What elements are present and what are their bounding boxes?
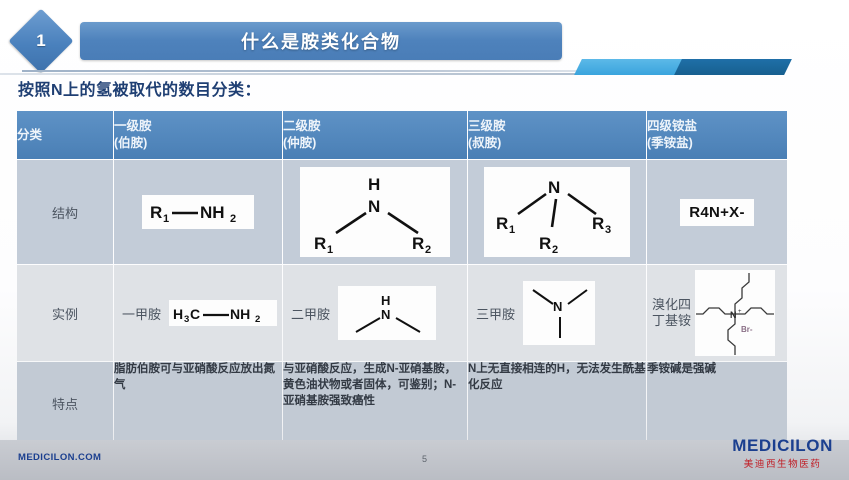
subtitle: 按照N上的氢被取代的数目分类：	[18, 76, 261, 100]
example-primary-plate: H 3 C NH 2	[169, 300, 277, 326]
example-tertiary-icon: N	[523, 281, 595, 345]
svg-text:R: R	[150, 203, 162, 222]
svg-text:N: N	[548, 178, 560, 197]
svg-text:NH: NH	[200, 203, 225, 222]
column-header-line1: 四级铵盐	[647, 118, 787, 135]
table-row-example: 实例 一甲胺 H 3 C NH 2	[17, 265, 787, 361]
example-primary-name: 一甲胺	[122, 304, 161, 323]
title-bar: 什么是胺类化合物	[80, 22, 562, 60]
column-header-tertiary: 三级胺 (叔胺)	[468, 111, 646, 159]
feature-quaternary: 季铵碱是强碱	[647, 362, 787, 444]
cell-structure-primary: R 1 NH 2	[114, 160, 282, 264]
table-header-row: 分类 一级胺 (伯胺) 二级胺 (仲胺) 三级胺 (叔胺) 四级铵盐 (季铵盐)	[17, 111, 787, 159]
svg-text:1: 1	[163, 213, 169, 225]
cell-structure-tertiary: N R 1 R 3 R 2	[468, 160, 646, 264]
svg-text:3: 3	[184, 314, 189, 325]
row-label-feature: 特点	[17, 362, 113, 444]
amine-classification-table: 分类 一级胺 (伯胺) 二级胺 (仲胺) 三级胺 (叔胺) 四级铵盐 (季铵盐)	[16, 110, 788, 445]
svg-text:H: H	[173, 306, 183, 322]
structure-tertiary-plate: N R 1 R 3 R 2	[484, 167, 630, 257]
table-row-feature: 特点 脂肪伯胺可与亚硝酸反应放出氮气 与亚硝酸反应，生成N-亚硝基胺，黄色油状物…	[17, 362, 787, 444]
decoration-line	[0, 73, 658, 75]
row-label-example: 实例	[17, 265, 113, 361]
svg-text:1: 1	[327, 244, 333, 256]
structure-quaternary-formula: R4N+X-	[680, 199, 754, 226]
example-quaternary-icon: N + Br-	[695, 270, 775, 356]
example-tertiary-name: 三甲胺	[476, 304, 515, 323]
column-header-line1: 一级胺	[114, 118, 282, 135]
svg-text:2: 2	[255, 314, 260, 325]
example-quaternary-name-line1: 溴化四	[652, 297, 691, 312]
header-decoration	[578, 59, 849, 77]
column-header-line2: (季铵盐)	[647, 135, 787, 152]
column-header-secondary: 二级胺 (仲胺)	[283, 111, 467, 159]
feature-secondary: 与亚硝酸反应，生成N-亚硝基胺，黄色油状物或者固体，可鉴别；N-亚硝基胺强致癌性	[283, 362, 467, 444]
structure-secondary-plate: H N R 1 R 2	[300, 167, 450, 257]
cell-example-primary: 一甲胺 H 3 C NH 2	[114, 265, 282, 361]
company-logo: MEDICILON 美迪西生物医药	[732, 437, 833, 470]
svg-text:R: R	[314, 234, 326, 253]
example-secondary-icon: H N	[338, 286, 436, 340]
logo-subtitle: 美迪西生物医药	[732, 456, 833, 470]
svg-text:N: N	[381, 307, 390, 322]
svg-text:2: 2	[230, 213, 236, 225]
slide-header: 1 什么是胺类化合物	[0, 0, 849, 82]
svg-text:3: 3	[605, 224, 611, 236]
structure-tertiary-icon: N R 1 R 3 R 2	[484, 167, 630, 257]
feature-primary: 脂肪伯胺可与亚硝酸反应放出氮气	[114, 362, 282, 444]
structure-primary-plate: R 1 NH 2	[142, 195, 254, 229]
example-secondary-plate: H N	[338, 286, 436, 340]
cell-example-secondary: 二甲胺 H N	[283, 265, 467, 361]
column-header-line2: (伯胺)	[114, 135, 282, 152]
svg-text:R: R	[592, 214, 604, 233]
table-row-structure: 结构 R 1 NH 2	[17, 160, 787, 264]
feature-tertiary: N上无直接相连的H，无法发生酰基化反应	[468, 362, 646, 444]
cell-example-quaternary: 溴化四 丁基铵 N	[647, 265, 787, 361]
column-header-line2: (叔胺)	[468, 135, 646, 152]
column-header-line1: 三级胺	[468, 118, 646, 135]
svg-text:NH: NH	[230, 306, 250, 322]
column-header-primary: 一级胺 (伯胺)	[114, 111, 282, 159]
structure-primary-icon: R 1 NH 2	[142, 195, 254, 229]
svg-text:2: 2	[552, 244, 558, 256]
example-quaternary-plate: N + Br-	[695, 270, 775, 356]
cell-structure-secondary: H N R 1 R 2	[283, 160, 467, 264]
structure-secondary-icon: H N R 1 R 2	[300, 167, 450, 257]
row-label-structure: 结构	[17, 160, 113, 264]
example-quaternary-name-line2: 丁基铵	[652, 313, 691, 328]
header-divider	[22, 70, 582, 72]
column-header-quaternary: 四级铵盐 (季铵盐)	[647, 111, 787, 159]
column-header-line1: 二级胺	[283, 118, 467, 135]
svg-text:N: N	[730, 310, 737, 320]
cell-structure-quaternary: R4N+X-	[647, 160, 787, 264]
svg-text:H: H	[368, 175, 380, 194]
column-header-line1: 分类	[17, 127, 113, 144]
column-header-line2: (仲胺)	[283, 135, 467, 152]
page-number: 5	[0, 454, 849, 464]
svg-text:R: R	[496, 214, 508, 233]
column-header-category: 分类	[17, 111, 113, 159]
svg-text:1: 1	[509, 224, 515, 236]
section-number-label: 1	[18, 18, 64, 64]
decoration-bar-light	[574, 59, 686, 75]
page-title: 什么是胺类化合物	[241, 28, 401, 54]
svg-text:R: R	[539, 234, 551, 253]
svg-text:N: N	[368, 197, 380, 216]
svg-text:R: R	[412, 234, 424, 253]
example-primary-icon: H 3 C NH 2	[169, 300, 277, 326]
svg-text:H: H	[381, 293, 390, 308]
example-quaternary-name: 溴化四 丁基铵	[652, 297, 691, 330]
svg-text:2: 2	[425, 244, 431, 256]
svg-text:N: N	[553, 299, 562, 314]
example-tertiary-plate: N	[523, 281, 595, 345]
example-secondary-name: 二甲胺	[291, 304, 330, 323]
slide: 1 什么是胺类化合物 按照N上的氢被取代的数目分类： 分类	[0, 0, 849, 480]
cell-example-tertiary: 三甲胺 N	[468, 265, 646, 361]
svg-text:C: C	[190, 306, 200, 322]
svg-text:+: +	[738, 309, 742, 315]
decoration-bar-dark	[674, 59, 792, 75]
logo-wordmark: MEDICILON	[732, 437, 833, 455]
example-quaternary-counterion: Br-	[741, 325, 753, 334]
